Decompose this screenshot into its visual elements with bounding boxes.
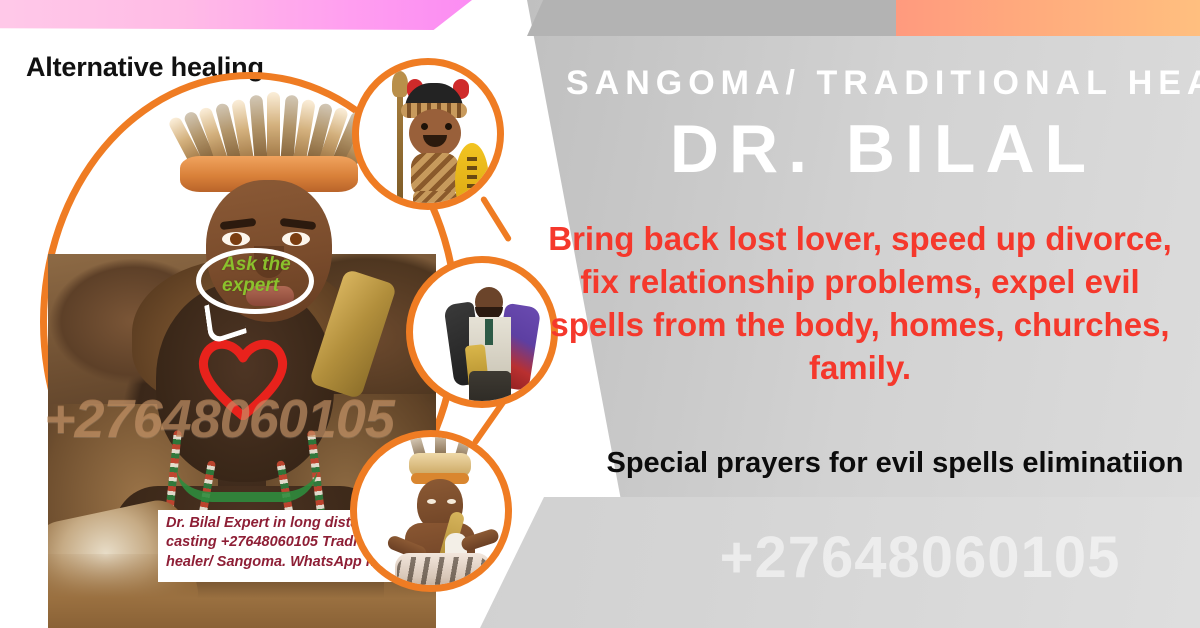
warrior-shield-pattern: [467, 157, 477, 205]
prayers-text: Special prayers for evil spells eliminat…: [600, 444, 1190, 483]
warrior-leg: [417, 205, 432, 210]
warrior-skirt: [413, 191, 457, 209]
hero-pupil-left: [230, 233, 242, 245]
hero-pupil-right: [290, 233, 302, 245]
photo-green-necklace: [176, 466, 318, 502]
top-band-orange: [896, 0, 1200, 36]
warrior-eye: [421, 123, 428, 130]
phone-watermark: +27648060105: [640, 524, 1200, 591]
warrior-eye: [445, 123, 452, 130]
traditional-dancer-illustration: [357, 437, 505, 585]
page-title: DR. BILAL: [568, 110, 1198, 188]
bubble-text: Ask the expert: [222, 254, 318, 297]
zulu-warrior-illustration: [359, 65, 497, 203]
top-band-pink: [0, 0, 472, 30]
kicker-title: SANGOMA/ TRADITIONAL HEALER: [566, 64, 1186, 103]
circle-zulu-warrior: [352, 58, 504, 210]
ask-the-expert-bubble: Ask the expert: [196, 248, 314, 314]
poster-canvas: Alternative healing: [0, 0, 1200, 628]
warrior-spear: [397, 79, 403, 209]
circle-traditional-dancer: [350, 430, 512, 592]
dancer-skirt-pattern: [397, 557, 489, 591]
dancer-eye: [427, 499, 436, 504]
services-text: Bring back lost lover, speed up divorce,…: [540, 218, 1180, 390]
photo-phone-watermark: +27648060105: [44, 388, 394, 450]
circle-sangoma-cloak: [406, 256, 558, 408]
warrior-leg: [441, 205, 456, 210]
warrior-head: [409, 109, 461, 157]
top-band-gray: [527, 0, 931, 36]
sangoma-tie: [485, 319, 493, 345]
sangoma-cloak-illustration: [413, 263, 551, 401]
warrior-spear-tip: [392, 71, 408, 97]
dancer-eye: [447, 499, 456, 504]
hero-feather: [267, 92, 280, 166]
sangoma-trousers: [469, 371, 511, 408]
